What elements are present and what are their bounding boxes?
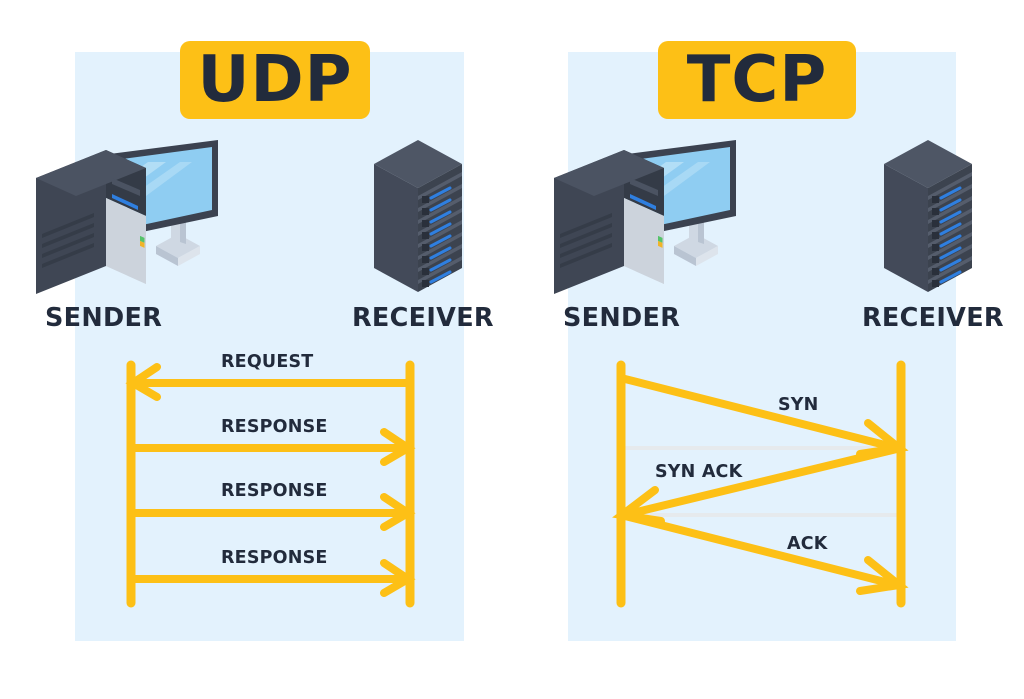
tcp-arrow-syn <box>621 378 897 448</box>
tcp-message-label-syn-ack: SYN ACK <box>655 462 742 482</box>
udp-message-label-request: REQUEST <box>221 352 313 372</box>
badge-udp: UDP <box>180 41 370 119</box>
udp-message-label-response-2: RESPONSE <box>221 481 328 501</box>
udp-message-label-response-1: RESPONSE <box>221 417 328 437</box>
label-udp-receiver: RECEIVER <box>352 303 494 333</box>
tcp-arrow-ack <box>621 515 897 585</box>
badge-tcp: TCP <box>658 41 856 119</box>
label-udp-sender: SENDER <box>45 303 162 333</box>
desktop-computer-icon <box>28 138 224 306</box>
tcp-message-label-ack: ACK <box>787 534 828 554</box>
server-rack-icon <box>368 134 468 299</box>
desktop-computer-icon <box>546 138 742 306</box>
server-rack-icon <box>878 134 978 299</box>
label-tcp-receiver: RECEIVER <box>862 303 1004 333</box>
label-tcp-sender: SENDER <box>563 303 680 333</box>
tcp-message-label-syn: SYN <box>778 395 819 415</box>
tcp-message-flow <box>600 345 930 625</box>
diagram-canvas: UDP <box>0 0 1024 699</box>
udp-message-label-response-3: RESPONSE <box>221 548 328 568</box>
